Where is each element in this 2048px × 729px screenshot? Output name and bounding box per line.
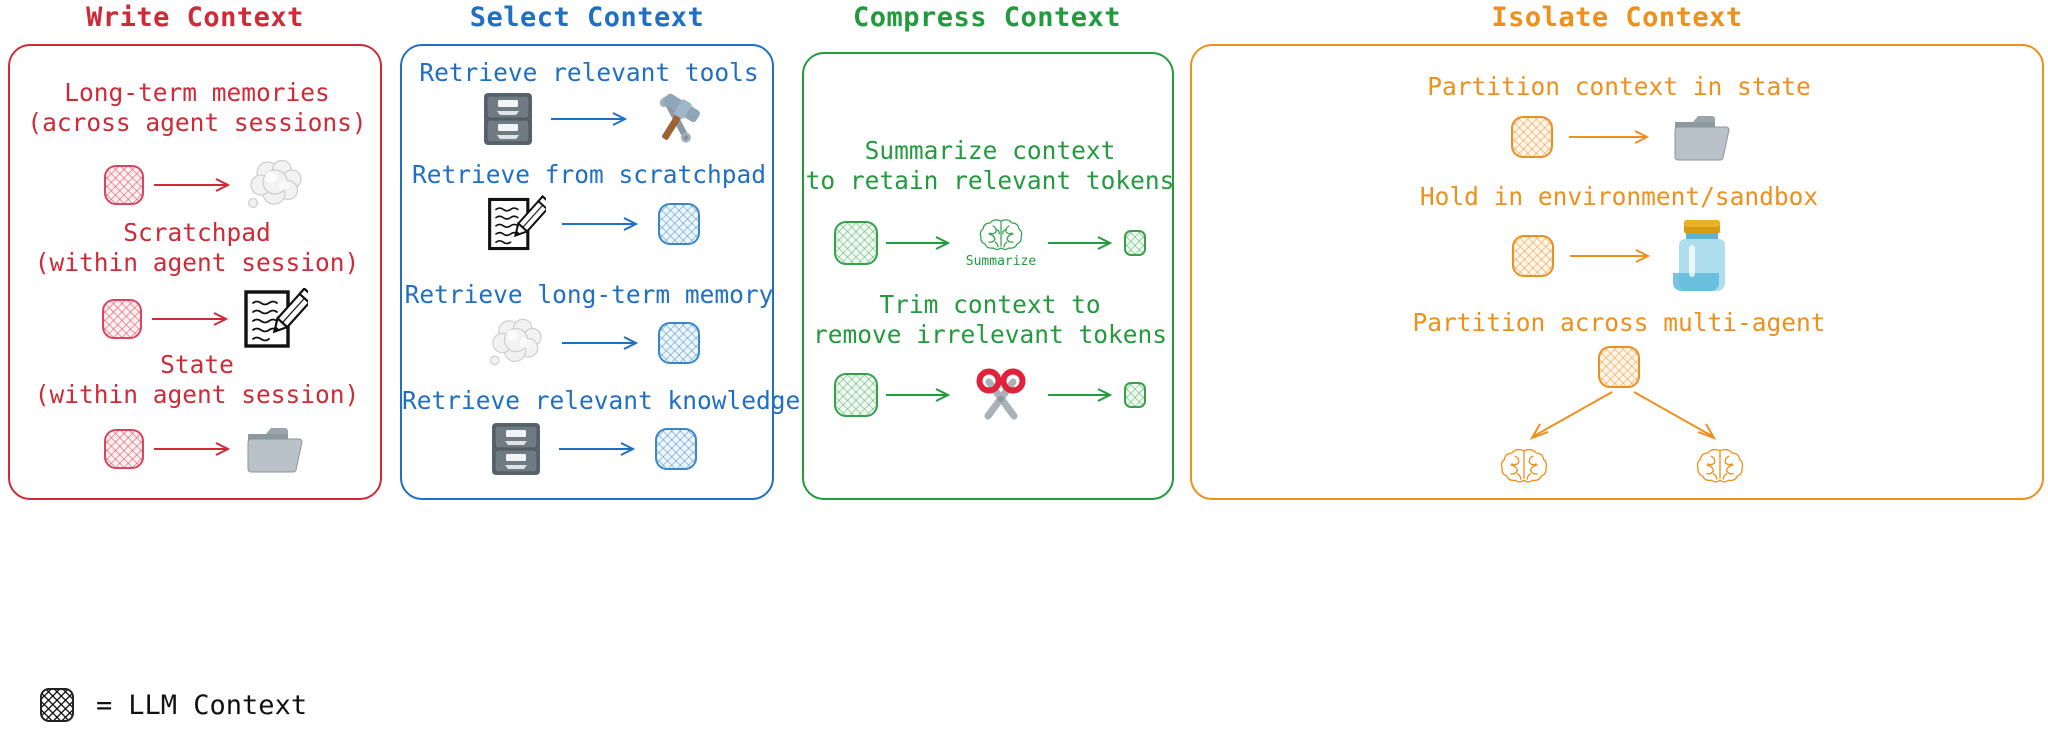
arrow-icon	[560, 333, 644, 353]
memo-note-pencil-icon	[486, 195, 546, 253]
legend-label: LLM Context	[128, 690, 307, 721]
legend: = LLM Context	[40, 688, 307, 722]
file-cabinet-icon	[489, 421, 543, 477]
row-label-retrieve-knowledge: Retrieve relevant knowledge	[402, 386, 776, 416]
flow-isolate-multi-agent	[1192, 342, 2046, 492]
row-label-long-term-memories: Long-term memories (across agent session…	[10, 78, 384, 138]
row-label-summarize-context: Summarize context to retain relevant tok…	[804, 136, 1176, 196]
llm-context-chip	[834, 221, 878, 265]
llm-context-chip	[834, 373, 878, 417]
memo-note-pencil-icon	[242, 288, 308, 350]
panel-box-isolate: Partition context in state	[1190, 44, 2044, 500]
row-label-retrieve-tools: Retrieve relevant tools	[402, 58, 776, 88]
flow-write-scratchpad	[80, 284, 330, 354]
llm-context-chip	[658, 322, 700, 364]
llm-context-chip-small	[1124, 230, 1146, 256]
arrow-icon	[884, 385, 956, 405]
arrow-icon	[152, 439, 236, 459]
summarize-caption: Summarize	[966, 254, 1036, 269]
arrow-icon	[560, 214, 644, 234]
branch-arrows-icon	[1472, 388, 1772, 450]
arrow-icon	[150, 309, 234, 329]
panel-isolate-context: Isolate Context Partition context in sta…	[1186, 0, 2048, 729]
flow-compress-summarize: Summarize	[822, 210, 1158, 276]
thought-cloud-icon	[486, 316, 546, 370]
llm-context-chip	[102, 299, 142, 339]
brain-icon	[1500, 446, 1548, 484]
panel-box-select: Retrieve relevant tools	[400, 44, 774, 500]
flow-select-tools	[448, 88, 738, 150]
panel-compress-context: Compress Context Summarize context to re…	[790, 0, 1184, 729]
llm-context-chip	[104, 165, 144, 205]
panel-box-compress: Summarize context to retain relevant tok…	[802, 52, 1174, 500]
llm-context-chip-legend-swatch	[40, 688, 74, 722]
trim-step	[962, 368, 1040, 422]
llm-context-chip	[1598, 346, 1640, 388]
panel-title-write: Write Context	[0, 4, 390, 31]
row-label-hold-environment-sandbox: Hold in environment/sandbox	[1192, 182, 2046, 212]
flow-write-state	[80, 416, 330, 482]
scissors-icon	[972, 368, 1030, 422]
panel-title-select: Select Context	[392, 4, 782, 31]
summarize-step: Summarize	[962, 217, 1040, 269]
flow-isolate-state	[1472, 106, 1772, 168]
legend-equals-sign: =	[96, 690, 112, 721]
row-label-partition-multi-agent: Partition across multi-agent	[1192, 308, 2046, 338]
row-label-partition-state: Partition context in state	[1192, 72, 2046, 102]
arrow-icon	[1046, 233, 1118, 253]
llm-context-chip	[1511, 116, 1553, 158]
row-label-retrieve-long-term-memory: Retrieve long-term memory	[402, 280, 776, 310]
flow-select-long-term-memory	[448, 312, 738, 374]
folder-icon	[1671, 110, 1733, 164]
hammer-and-wrench-icon	[647, 92, 705, 146]
file-cabinet-icon	[481, 91, 535, 147]
flow-compress-trim	[822, 362, 1158, 428]
flow-select-scratchpad	[448, 192, 738, 256]
flow-select-knowledge	[448, 418, 738, 480]
arrow-icon	[1568, 246, 1658, 266]
llm-context-chip-small	[1124, 382, 1146, 408]
row-label-retrieve-scratchpad: Retrieve from scratchpad	[402, 160, 776, 190]
flow-isolate-sandbox	[1472, 216, 1772, 296]
jar-icon	[1672, 217, 1732, 295]
arrow-icon	[1567, 127, 1657, 147]
row-label-state: State (within agent session)	[10, 350, 384, 410]
llm-context-chip	[655, 428, 697, 470]
thought-cloud-icon	[244, 157, 306, 213]
panel-write-context: Write Context Long-term memories (across…	[0, 0, 390, 729]
arrow-icon	[557, 439, 641, 459]
flow-write-long-term-memories	[80, 152, 330, 218]
panel-title-compress: Compress Context	[790, 4, 1184, 31]
arrow-icon	[884, 233, 956, 253]
panel-box-write: Long-term memories (across agent session…	[8, 44, 382, 500]
arrow-icon	[1046, 385, 1118, 405]
brain-icon	[1696, 446, 1744, 484]
brain-icon	[979, 217, 1023, 251]
row-label-trim-context: Trim context to remove irrelevant tokens	[804, 290, 1176, 350]
panel-title-isolate: Isolate Context	[1186, 4, 2048, 31]
llm-context-chip	[104, 429, 144, 469]
arrow-icon	[152, 175, 236, 195]
llm-context-chip	[1512, 235, 1554, 277]
llm-context-chip	[658, 203, 700, 245]
arrow-icon	[549, 109, 633, 129]
row-label-scratchpad: Scratchpad (within agent session)	[10, 218, 384, 278]
diagram-canvas: Write Context Long-term memories (across…	[0, 0, 2048, 729]
folder-icon	[244, 422, 306, 476]
panel-select-context: Select Context Retrieve relevant tools	[392, 0, 782, 729]
